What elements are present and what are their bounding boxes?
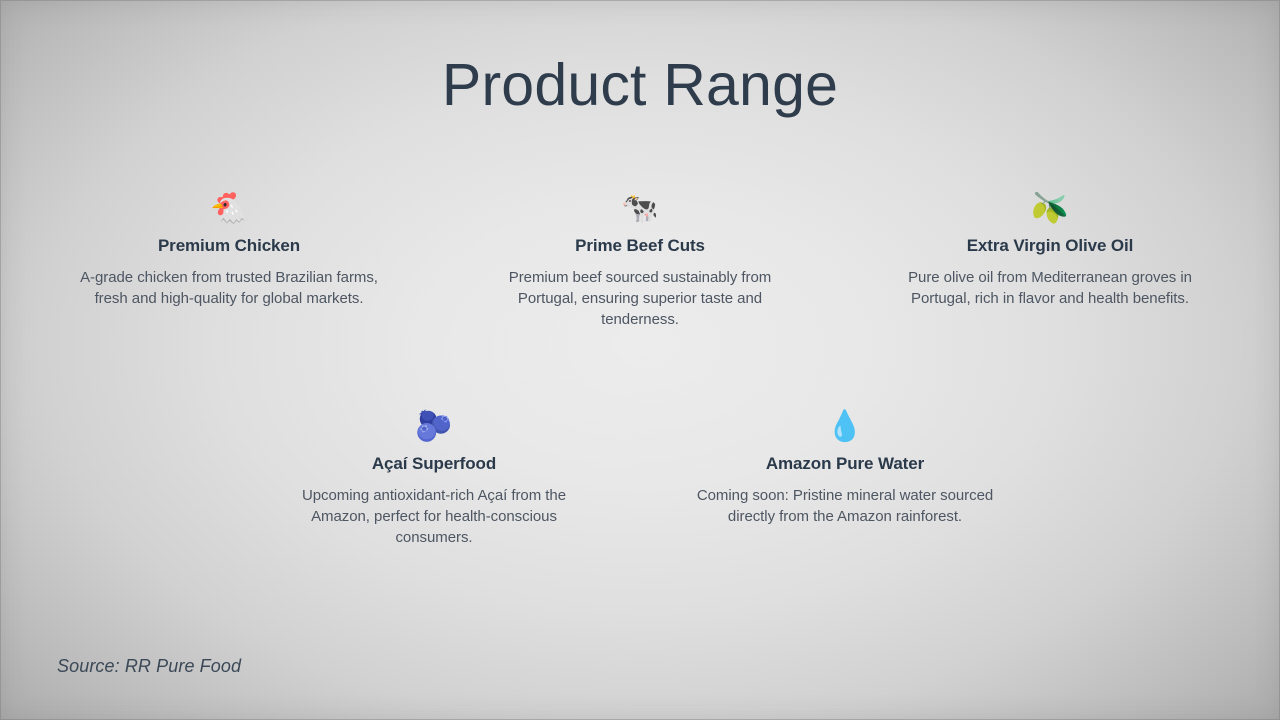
source-attribution: Source: RR Pure Food: [57, 656, 241, 677]
presentation-slide: Product Range 🐔 Premium Chicken A-grade …: [0, 0, 1280, 720]
water-droplet-icon: 💧: [695, 410, 995, 444]
product-card-description: Premium beef sourced sustainably from Po…: [490, 267, 790, 330]
product-card-title: Extra Virgin Olive Oil: [900, 235, 1200, 257]
cow-icon: 🐄: [490, 192, 790, 226]
chicken-icon: 🐔: [79, 192, 379, 226]
product-card-description: Upcoming antioxidant-rich Açaí from the …: [284, 485, 584, 548]
product-card-title: Amazon Pure Water: [695, 453, 995, 475]
product-card-acai-superfood: 🫐 Açaí Superfood Upcoming antioxidant-ri…: [284, 410, 584, 548]
product-card-description: A-grade chicken from trusted Brazilian f…: [79, 267, 379, 309]
blueberries-icon: 🫐: [284, 410, 584, 444]
page-title: Product Range: [0, 52, 1280, 118]
product-card-extra-virgin-olive-oil: 🫒 Extra Virgin Olive Oil Pure olive oil …: [900, 192, 1200, 309]
product-card-title: Prime Beef Cuts: [490, 235, 790, 257]
product-card-prime-beef-cuts: 🐄 Prime Beef Cuts Premium beef sourced s…: [490, 192, 790, 330]
slide-content-layer: Product Range 🐔 Premium Chicken A-grade …: [0, 0, 1280, 720]
product-card-description: Coming soon: Pristine mineral water sour…: [695, 485, 995, 527]
product-card-amazon-pure-water: 💧 Amazon Pure Water Coming soon: Pristin…: [695, 410, 995, 527]
product-card-description: Pure olive oil from Mediterranean groves…: [900, 267, 1200, 309]
product-card-premium-chicken: 🐔 Premium Chicken A-grade chicken from t…: [79, 192, 379, 309]
olive-icon: 🫒: [900, 192, 1200, 226]
product-card-title: Premium Chicken: [79, 235, 379, 257]
product-card-title: Açaí Superfood: [284, 453, 584, 475]
